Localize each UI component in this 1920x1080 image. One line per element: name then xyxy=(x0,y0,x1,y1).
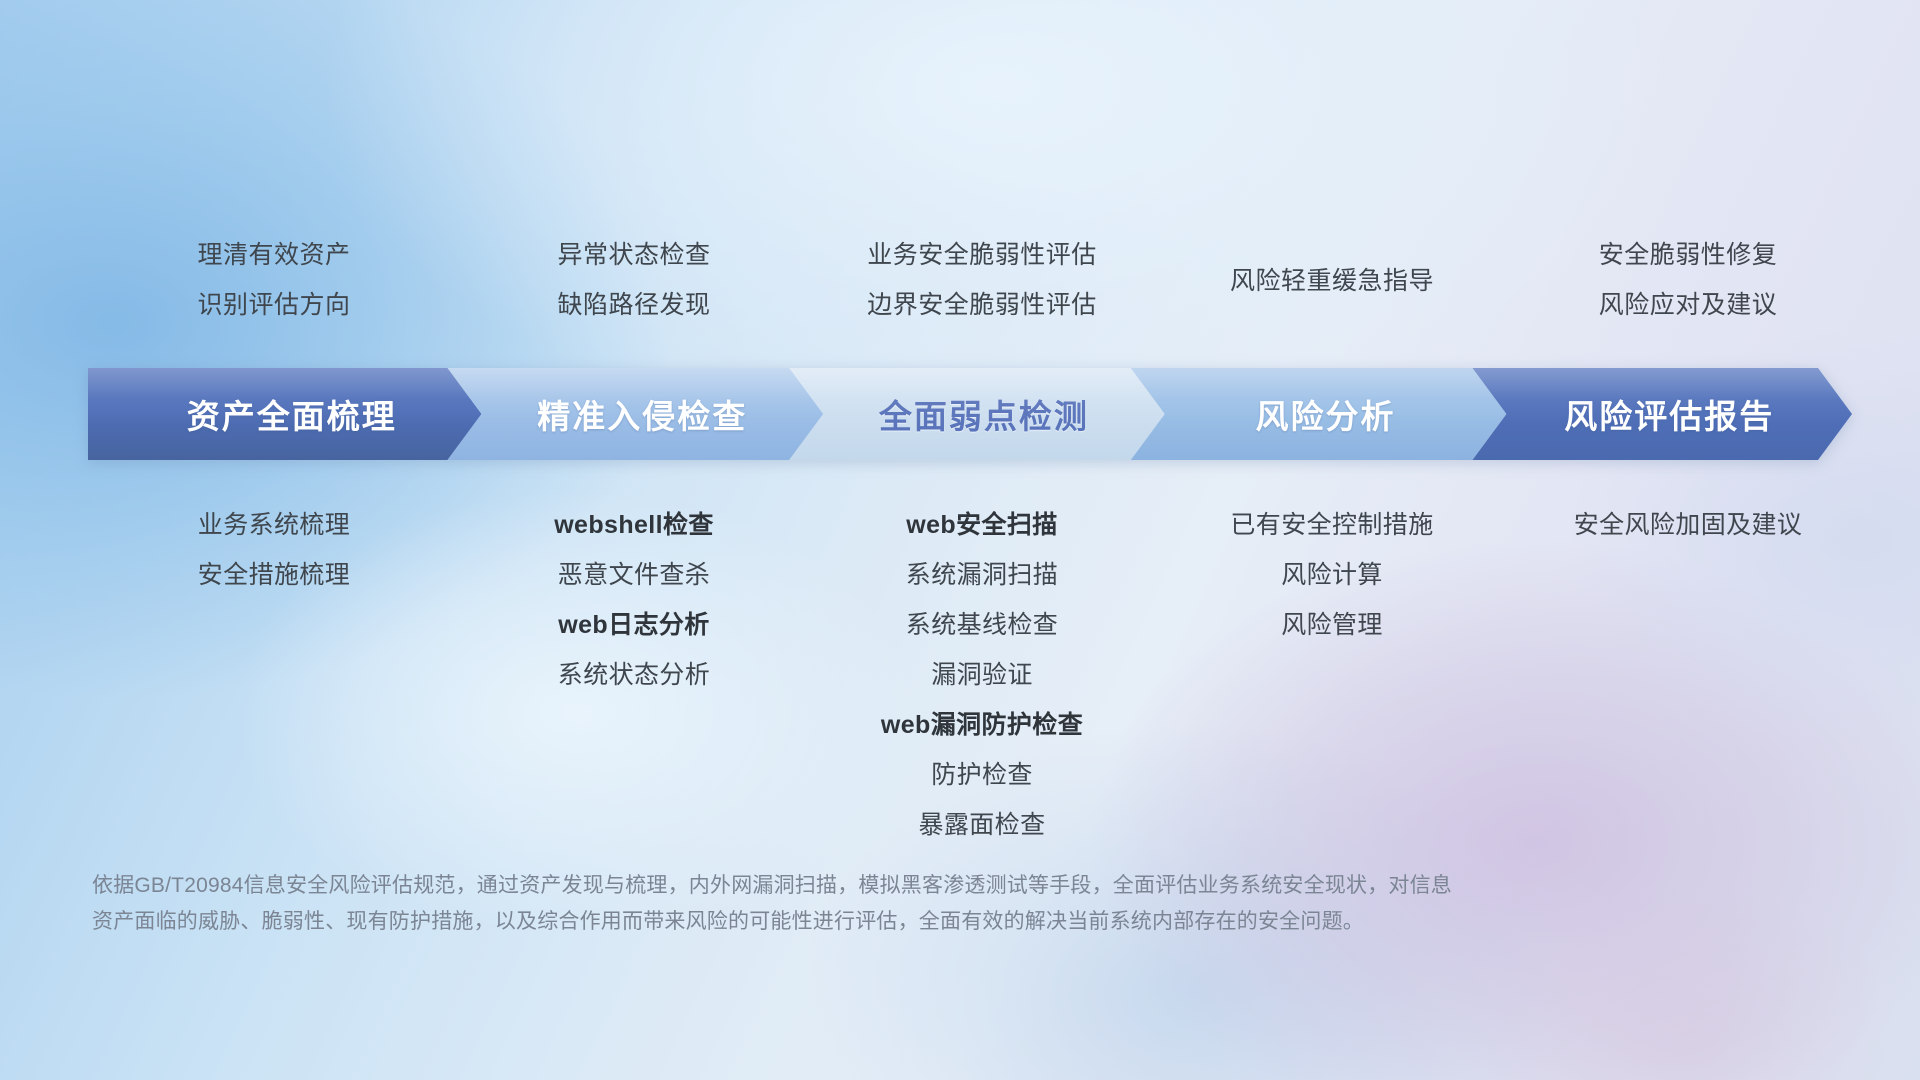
bottom-items-weakness-detection: web安全扫描 系统漏洞扫描 系统基线检查 漏洞验证 web漏洞防护检查 防护检… xyxy=(808,500,1156,850)
list-item: 系统基线检查 xyxy=(906,600,1058,650)
stage-arrow-label: 全面弱点检测 xyxy=(879,390,1089,438)
list-item: web日志分析 xyxy=(558,600,709,650)
top-caption: 风险应对及建议 xyxy=(1599,280,1778,330)
list-item: web安全扫描 xyxy=(906,500,1057,550)
top-captions-asset-inventory: 理清有效资产 识别评估方向 xyxy=(88,230,460,330)
bottom-items-risk-analysis: 已有安全控制措施 风险计算 风险管理 xyxy=(1156,500,1508,650)
top-caption: 识别评估方向 xyxy=(197,280,350,330)
top-caption: 理清有效资产 xyxy=(197,230,350,280)
stage-arrow-intrusion-check[interactable]: 精准入侵检查 xyxy=(447,368,823,460)
stage-arrow-label: 风险分析 xyxy=(1256,390,1396,438)
list-item: 漏洞验证 xyxy=(931,650,1033,700)
list-item: 恶意文件查杀 xyxy=(558,550,710,600)
top-caption-rail: 理清有效资产 识别评估方向 异常状态检查 缺陷路径发现 业务安全脆弱性评估 边界… xyxy=(0,230,1920,330)
list-item: 安全风险加固及建议 xyxy=(1574,500,1803,550)
bottom-items-intrusion-check: webshell检查 恶意文件查杀 web日志分析 系统状态分析 xyxy=(460,500,808,700)
bottom-items-asset-inventory: 业务系统梳理 安全措施梳理 xyxy=(88,500,460,600)
list-item: 风险管理 xyxy=(1281,600,1383,650)
stage-arrow-asset-inventory[interactable]: 资产全面梳理 xyxy=(88,368,481,460)
top-caption: 风险轻重缓急指导 xyxy=(1230,256,1434,306)
list-item: 安全措施梳理 xyxy=(198,550,350,600)
bottom-items-risk-report: 安全风险加固及建议 xyxy=(1508,500,1868,550)
list-item: 防护检查 xyxy=(931,750,1033,800)
list-item: 已有安全控制措施 xyxy=(1230,500,1433,550)
list-item: 风险计算 xyxy=(1281,550,1383,600)
stage-arrow-label: 资产全面梳理 xyxy=(187,390,397,438)
stage-arrow-label: 风险评估报告 xyxy=(1564,390,1774,438)
footer-line: 资产面临的威胁、脆弱性、现有防护措施，以及综合作用而带来风险的可能性进行评估，全… xyxy=(92,904,1732,940)
list-item: web漏洞防护检查 xyxy=(881,700,1083,750)
process-diagram: 理清有效资产 识别评估方向 异常状态检查 缺陷路径发现 业务安全脆弱性评估 边界… xyxy=(0,0,1920,1080)
top-captions-weakness-detection: 业务安全脆弱性评估 边界安全脆弱性评估 xyxy=(808,230,1156,330)
bottom-caption-rail: 业务系统梳理 安全措施梳理 webshell检查 恶意文件查杀 web日志分析 … xyxy=(0,500,1920,850)
list-item: 业务系统梳理 xyxy=(198,500,350,550)
stage-arrow-risk-report[interactable]: 风险评估报告 xyxy=(1472,368,1852,460)
top-captions-intrusion-check: 异常状态检查 缺陷路径发现 xyxy=(460,230,808,330)
top-captions-risk-analysis: 风险轻重缓急指导 xyxy=(1156,230,1508,306)
list-item: 系统漏洞扫描 xyxy=(906,550,1058,600)
top-caption: 边界安全脆弱性评估 xyxy=(867,280,1097,330)
stage-arrow-risk-analysis[interactable]: 风险分析 xyxy=(1131,368,1507,460)
stage-arrow-band: 资产全面梳理 精准入侵检查 全面弱点检测 风险分析 风险评估报告 xyxy=(88,368,1852,460)
top-caption: 异常状态检查 xyxy=(557,230,710,280)
footer-description: 依据GB/T20984信息安全风险评估规范，通过资产发现与梳理，内外网漏洞扫描，… xyxy=(92,868,1732,940)
top-caption: 业务安全脆弱性评估 xyxy=(867,230,1097,280)
top-captions-risk-report: 安全脆弱性修复 风险应对及建议 xyxy=(1508,230,1868,330)
top-caption: 缺陷路径发现 xyxy=(557,280,710,330)
top-caption: 安全脆弱性修复 xyxy=(1599,230,1778,280)
list-item: 暴露面检查 xyxy=(918,800,1045,850)
footer-line: 依据GB/T20984信息安全风险评估规范，通过资产发现与梳理，内外网漏洞扫描，… xyxy=(92,868,1732,904)
list-item: webshell检查 xyxy=(554,500,714,550)
stage-arrow-label: 精准入侵检查 xyxy=(537,390,747,438)
stage-arrow-weakness-detection[interactable]: 全面弱点检测 xyxy=(789,368,1165,460)
list-item: 系统状态分析 xyxy=(558,650,710,700)
